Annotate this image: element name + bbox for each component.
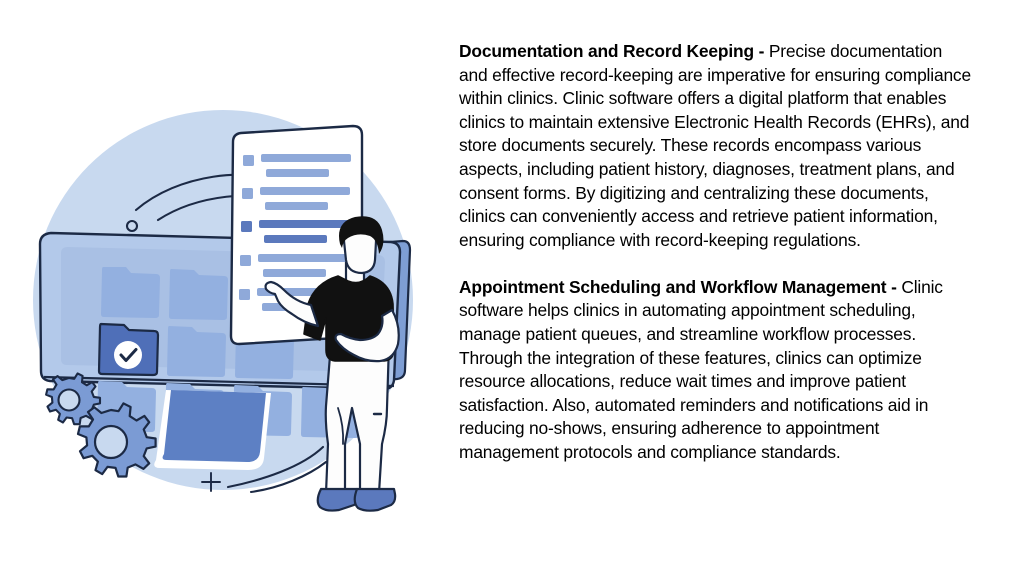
clinic-records-illustration (8, 78, 448, 523)
paragraph-lead: Documentation and Record Keeping - (459, 41, 769, 61)
slide-root: Documentation and Record Keeping - Preci… (0, 0, 1024, 576)
monitor-stand (163, 390, 266, 462)
paragraph-appointment-scheduling-and-workflow-management: Appointment Scheduling and Workflow Mana… (459, 276, 975, 465)
paragraph-documentation-and-record-keeping: Documentation and Record Keeping - Preci… (459, 40, 975, 252)
paragraph-body: Clinic software helps clinics in automat… (459, 277, 943, 462)
paragraph-body: Precise documentation and effective reco… (459, 41, 971, 250)
folder-item (167, 326, 226, 377)
shoe-left (318, 489, 358, 511)
body-text-column: Documentation and Record Keeping - Preci… (459, 40, 975, 465)
folder-item (169, 269, 228, 320)
person-legs (326, 343, 389, 493)
shoe-right (355, 489, 395, 511)
folder-item (101, 267, 160, 318)
paragraph-lead: Appointment Scheduling and Workflow Mana… (459, 277, 901, 297)
folder-check-badge (114, 341, 142, 369)
